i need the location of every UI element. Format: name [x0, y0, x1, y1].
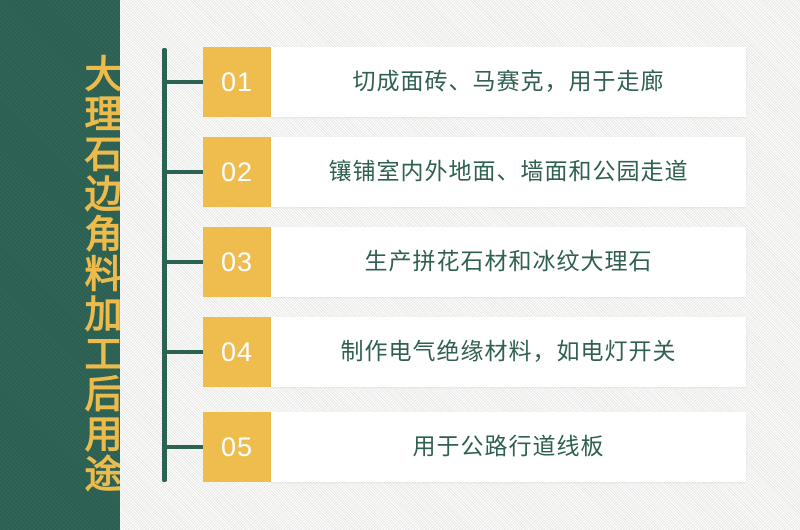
row-connector-line — [162, 445, 203, 449]
timeline-row[interactable]: 04制作电气绝缘材料，如电灯开关 — [162, 317, 746, 387]
timeline-row[interactable]: 01切成面砖、马赛克，用于走廊 — [162, 47, 746, 117]
row-connector-line — [162, 350, 203, 354]
row-connector-line — [162, 260, 203, 264]
row-card[interactable]: 切成面砖、马赛克，用于走廊 — [271, 47, 746, 117]
row-number-badge: 01 — [203, 47, 271, 117]
row-card-text: 制作电气绝缘材料，如电灯开关 — [271, 341, 746, 364]
row-number-badge: 02 — [203, 137, 271, 207]
row-card[interactable]: 生产拼花石材和冰纹大理石 — [271, 227, 746, 297]
timeline-rows: 01切成面砖、马赛克，用于走廊02镶铺室内外地面、墙面和公园走道03生产拼花石材… — [0, 0, 800, 530]
infographic-canvas: 大理石边角料加工后用途 01切成面砖、马赛克，用于走廊02镶铺室内外地面、墙面和… — [0, 0, 800, 530]
row-card[interactable]: 镶铺室内外地面、墙面和公园走道 — [271, 137, 746, 207]
row-card[interactable]: 制作电气绝缘材料，如电灯开关 — [271, 317, 746, 387]
row-card-text: 生产拼花石材和冰纹大理石 — [271, 251, 746, 274]
row-number-badge: 03 — [203, 227, 271, 297]
timeline-row[interactable]: 02镶铺室内外地面、墙面和公园走道 — [162, 137, 746, 207]
row-card[interactable]: 用于公路行道线板 — [271, 412, 746, 482]
row-number-badge: 04 — [203, 317, 271, 387]
row-card-text: 切成面砖、马赛克，用于走廊 — [271, 71, 746, 94]
row-card-text: 用于公路行道线板 — [271, 436, 746, 459]
row-card-text: 镶铺室内外地面、墙面和公园走道 — [271, 161, 746, 184]
row-connector-line — [162, 80, 203, 84]
row-number-badge: 05 — [203, 412, 271, 482]
timeline-row[interactable]: 03生产拼花石材和冰纹大理石 — [162, 227, 746, 297]
timeline-row[interactable]: 05用于公路行道线板 — [162, 412, 746, 482]
row-connector-line — [162, 170, 203, 174]
